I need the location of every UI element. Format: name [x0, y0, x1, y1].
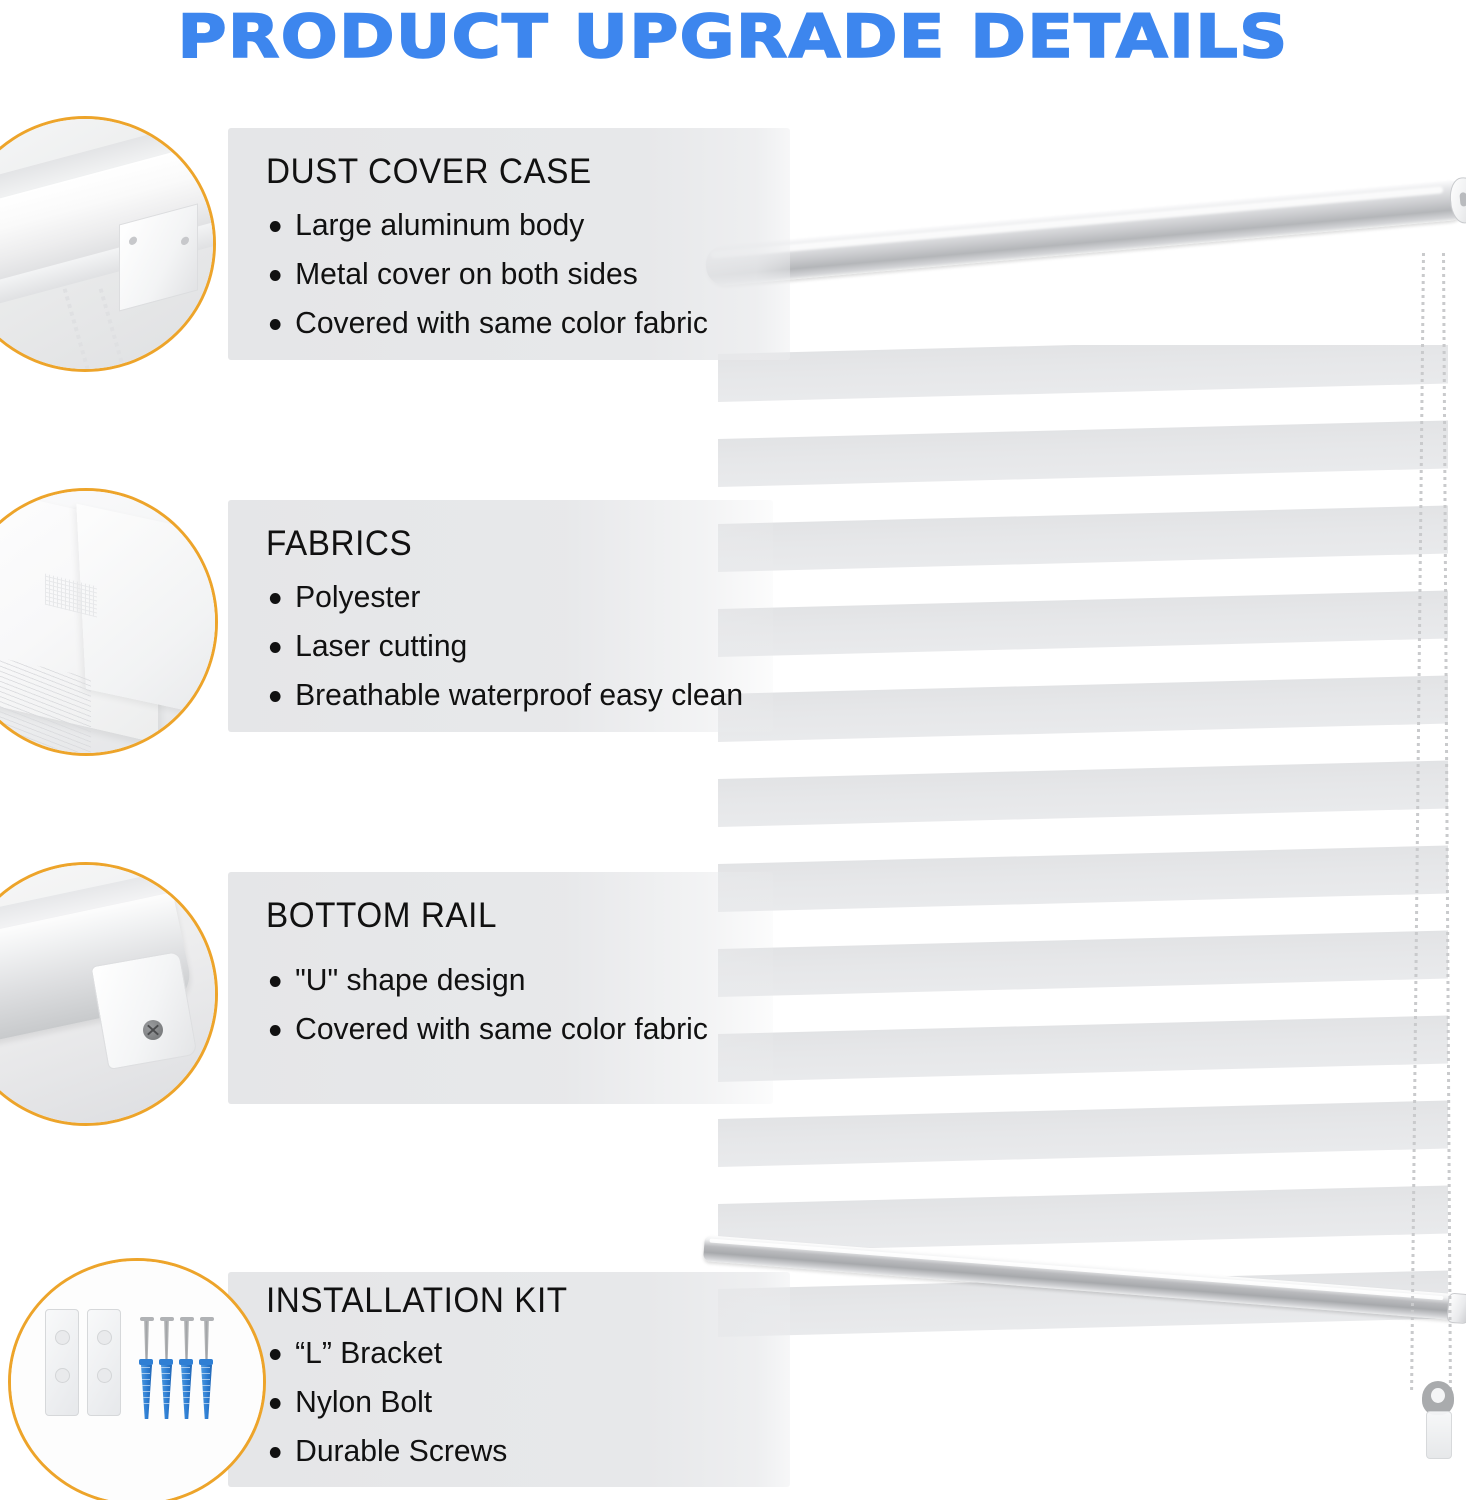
feature-bullet-list: Large aluminum body Metal cover on both … [266, 200, 722, 347]
nylon-anchor-part [139, 1359, 153, 1419]
fabrics-photo [0, 488, 218, 756]
feature-title: BOTTOM RAIL [266, 896, 497, 936]
nylon-anchor-part [179, 1359, 193, 1419]
feature-bullet-list: Polyester Laser cutting Breathable water… [266, 572, 758, 719]
feature-title: DUST COVER CASE [266, 152, 592, 192]
chain-tensioner [1420, 1381, 1456, 1461]
feature-bullet-list: "U" shape design Covered with same color… [266, 955, 722, 1053]
feature-title: FABRICS [266, 524, 412, 564]
infographic-canvas: PRODUCT UPGRADE DETAILS [0, 0, 1466, 1500]
l-bracket-part [45, 1309, 79, 1416]
feature-title: INSTALLATION KIT [266, 1281, 568, 1321]
list-item: Durable Screws [266, 1426, 507, 1475]
list-item: Polyester [266, 572, 743, 621]
bead-chain-loop [1414, 253, 1458, 1438]
feature-bullet-list: “L” Bracket Nylon Bolt Durable Screws [266, 1328, 515, 1475]
zebra-roller-blind [690, 195, 1466, 1355]
nylon-anchor-part [159, 1359, 173, 1419]
list-item: "U" shape design [266, 955, 708, 1004]
nylon-anchor-part [199, 1359, 213, 1419]
list-item: Covered with same color fabric [266, 1004, 708, 1053]
list-item: Large aluminum body [266, 200, 708, 249]
list-item: Nylon Bolt [266, 1377, 507, 1426]
installation-kit-photo [8, 1258, 266, 1500]
dust-cover-case-photo [0, 116, 216, 372]
list-item: Covered with same color fabric [266, 298, 708, 347]
list-item: Laser cutting [266, 621, 743, 670]
bottom-rail-photo [0, 862, 218, 1126]
dust-cover-headrail [704, 179, 1466, 287]
list-item: Breathable waterproof easy clean [266, 670, 743, 719]
list-item: “L” Bracket [266, 1328, 507, 1377]
list-item: Metal cover on both sides [266, 249, 708, 298]
page-title: PRODUCT UPGRADE DETAILS [0, 2, 1466, 72]
l-bracket-part [87, 1309, 121, 1416]
